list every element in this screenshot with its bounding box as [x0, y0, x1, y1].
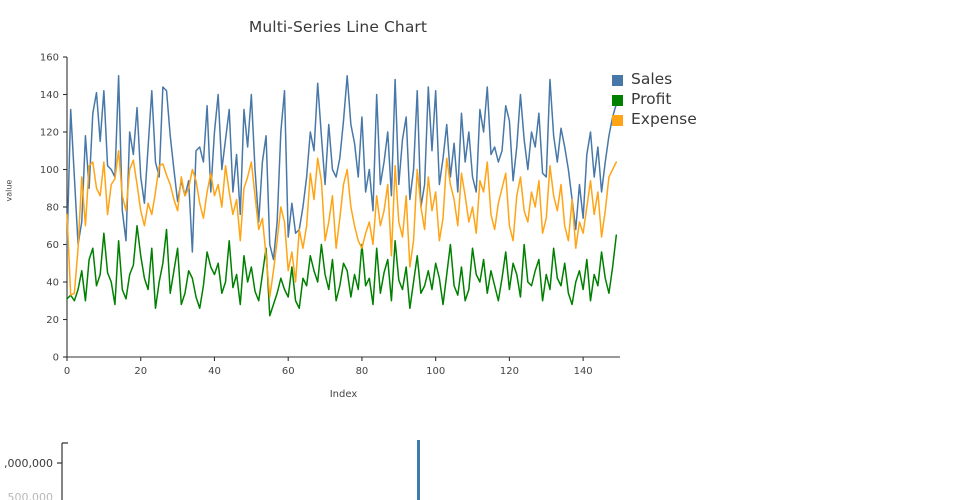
y-tick-label: 80 — [46, 203, 59, 214]
legend-swatch-icon — [612, 115, 623, 126]
series-line-sales — [67, 76, 616, 260]
y-tick-label: 120 — [40, 128, 59, 139]
secondary-axis-spine — [62, 443, 68, 500]
y-tick-label: 160 — [40, 53, 59, 64]
secondary-chart-plot: ,000,000500,000 — [0, 415, 960, 500]
x-tick-label: 80 — [356, 366, 369, 377]
legend-item-profit[interactable]: Profit — [612, 90, 792, 110]
secondary-chart-bar — [417, 440, 420, 500]
legend-item-sales[interactable]: Sales — [612, 70, 792, 90]
legend-item-label: Sales — [631, 72, 672, 88]
y-tick-label: 140 — [40, 90, 59, 101]
x-tick-label: 40 — [208, 366, 221, 377]
y-axis-label: value — [5, 188, 14, 202]
legend-item-label: Expense — [631, 112, 697, 128]
x-axis-label: Index — [67, 389, 620, 400]
screenshot-root: Multi-Series Line Chart 0204060801001201… — [0, 0, 960, 500]
legend-swatch-icon — [612, 95, 623, 106]
secondary-chart-figure-clipped: ,000,000500,000 — [0, 415, 960, 500]
legend-item-expense[interactable]: Expense — [612, 110, 792, 130]
x-tick-label: 60 — [282, 366, 295, 377]
x-tick-label: 100 — [426, 366, 445, 377]
x-tick-label: 20 — [134, 366, 147, 377]
y-tick-label: 0 — [53, 353, 59, 364]
y-tick-label: 60 — [46, 240, 59, 251]
chart-legend: SalesProfitExpense — [612, 70, 792, 130]
legend-item-label: Profit — [631, 92, 671, 108]
series-line-profit — [67, 226, 616, 316]
secondary-y-tick-label-cutoff: 500,000 — [8, 491, 54, 500]
y-tick-label: 100 — [40, 165, 59, 176]
secondary-y-tick-label: ,000,000 — [4, 457, 53, 470]
main-chart-figure: Multi-Series Line Chart 0204060801001201… — [0, 0, 960, 415]
x-tick-label: 140 — [574, 366, 593, 377]
line-chart-plot: 020406080100120140160020406080100120140 — [0, 0, 960, 415]
x-tick-label: 120 — [500, 366, 519, 377]
y-tick-label: 20 — [46, 315, 59, 326]
x-tick-label: 0 — [64, 366, 70, 377]
legend-swatch-icon — [612, 75, 623, 86]
y-tick-label: 40 — [46, 278, 59, 289]
